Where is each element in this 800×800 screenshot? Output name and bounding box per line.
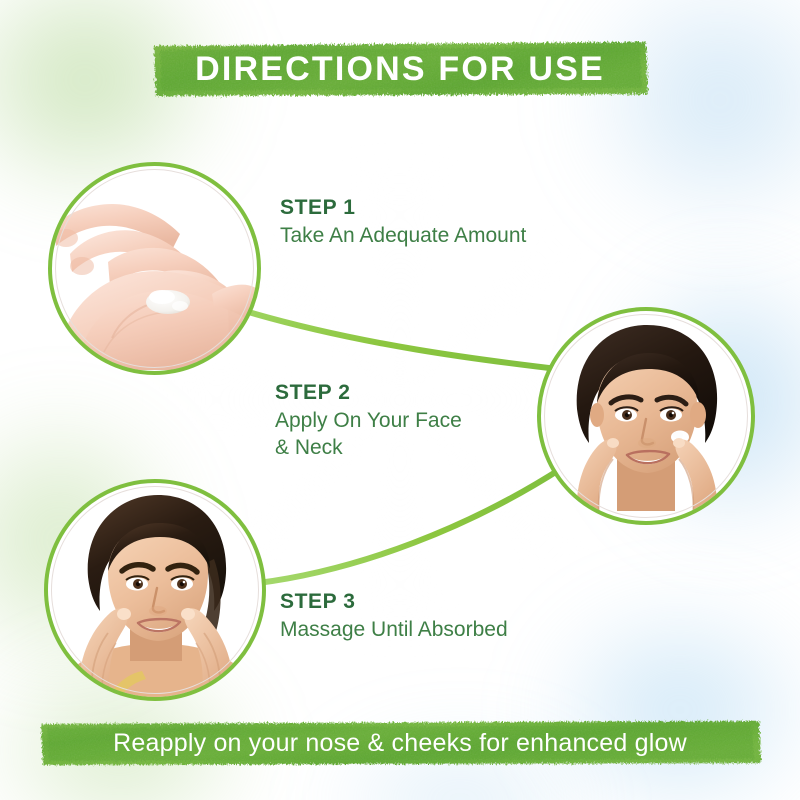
title-banner: DIRECTIONS FOR USE: [150, 38, 650, 100]
step-3-text-block: STEP 3 Massage Until Absorbed: [280, 590, 580, 644]
step-2-description-line-1: Apply On Your Face: [275, 408, 525, 435]
step-2-photo-circle: [537, 307, 755, 525]
connector-step1-to-step2: [245, 311, 566, 370]
step-2-text-block: STEP 2 Apply On Your Face & Neck: [275, 381, 525, 462]
directions-for-use-infographic: DIRECTIONS FOR USE: [0, 0, 800, 800]
connector-step2-to-step3: [258, 468, 562, 583]
step-3-description: Massage Until Absorbed: [280, 617, 580, 644]
step-1-text-block: STEP 1 Take An Adequate Amount: [280, 196, 610, 250]
title-banner-label: DIRECTIONS FOR USE: [195, 50, 605, 89]
step-3-photo-circle: [44, 479, 266, 701]
step-2-description-line-2: & Neck: [275, 435, 525, 462]
step-1-photo-circle: [48, 162, 261, 375]
step-2-label: STEP 2: [275, 381, 525, 404]
footer-banner: Reapply on your nose & cheeks for enhanc…: [38, 718, 762, 768]
step-2-green-ring: [537, 307, 755, 525]
step-1-green-ring: [48, 162, 261, 375]
footer-banner-label: Reapply on your nose & cheeks for enhanc…: [113, 729, 687, 758]
step-1-description: Take An Adequate Amount: [280, 223, 610, 250]
step-3-green-ring: [44, 479, 266, 701]
step-3-label: STEP 3: [280, 590, 580, 613]
step-1-label: STEP 1: [280, 196, 610, 219]
